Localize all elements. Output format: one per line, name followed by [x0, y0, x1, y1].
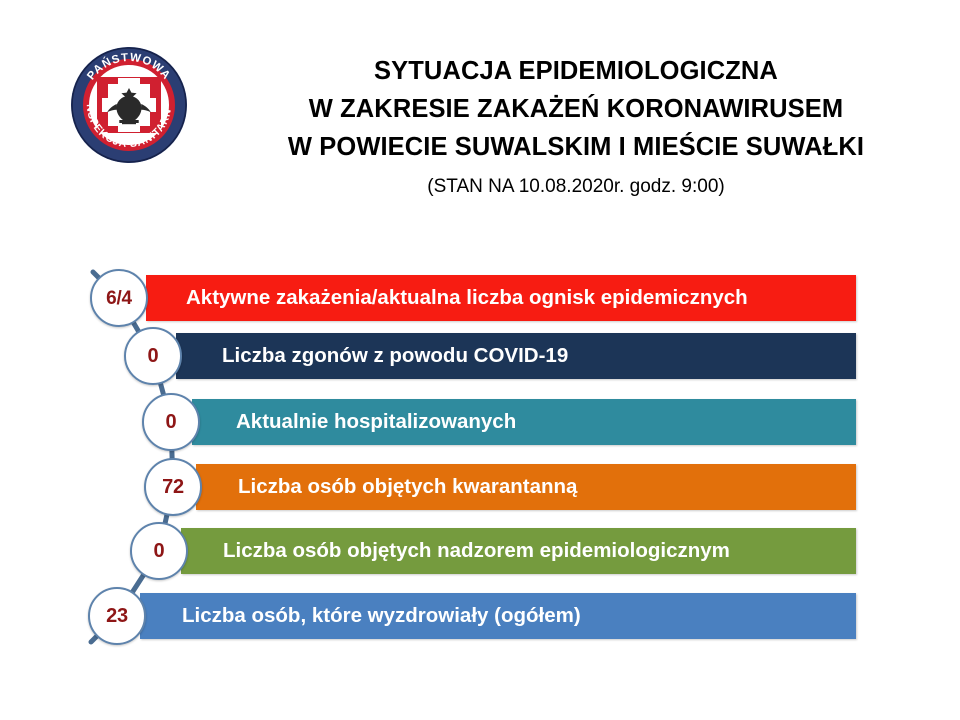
badge-value: 6/4 [106, 289, 132, 308]
bar-label: Liczba osób objętych nadzorem epidemiolo… [223, 541, 730, 562]
value-badge: 0 [124, 327, 182, 385]
bar-label: Aktywne zakażenia/aktualna liczba ognisk… [186, 288, 748, 309]
badge-value: 72 [162, 477, 184, 497]
chart-row: Liczba osób, które wyzdrowiały (ogółem)2… [0, 593, 960, 639]
bar-label: Liczba osób, które wyzdrowiały (ogółem) [182, 606, 581, 627]
chart-row: Liczba osób objętych nadzorem epidemiolo… [0, 528, 960, 574]
bar-label: Aktualnie hospitalizowanych [236, 412, 516, 433]
bar-label: Liczba zgonów z powodu COVID-19 [222, 346, 568, 367]
chart-row: Liczba zgonów z powodu COVID-190 [0, 333, 960, 379]
value-badge: 6/4 [90, 269, 148, 327]
badge-value: 0 [166, 412, 177, 432]
bar-label: Liczba osób objętych kwarantanną [238, 477, 577, 498]
value-badge: 0 [142, 393, 200, 451]
bar-4: Liczba osób objętych nadzorem epidemiolo… [181, 528, 856, 574]
value-badge: 23 [88, 587, 146, 645]
chart-row: Aktualnie hospitalizowanych0 [0, 399, 960, 445]
statistics-chart: Aktywne zakażenia/aktualna liczba ognisk… [0, 0, 960, 720]
bar-2: Aktualnie hospitalizowanych [192, 399, 856, 445]
bar-5: Liczba osób, które wyzdrowiały (ogółem) [140, 593, 856, 639]
infographic-page: PAŃSTWOWA INSPEKCJA SANITARNA SYTUACJA E… [0, 0, 960, 720]
bar-0: Aktywne zakażenia/aktualna liczba ognisk… [146, 275, 856, 321]
bar-3: Liczba osób objętych kwarantanną [196, 464, 856, 510]
bar-1: Liczba zgonów z powodu COVID-19 [176, 333, 856, 379]
badge-value: 0 [154, 541, 165, 561]
value-badge: 72 [144, 458, 202, 516]
chart-row: Liczba osób objętych kwarantanną72 [0, 464, 960, 510]
badge-value: 0 [148, 346, 159, 366]
value-badge: 0 [130, 522, 188, 580]
badge-value: 23 [106, 606, 128, 626]
chart-row: Aktywne zakażenia/aktualna liczba ognisk… [0, 275, 960, 321]
